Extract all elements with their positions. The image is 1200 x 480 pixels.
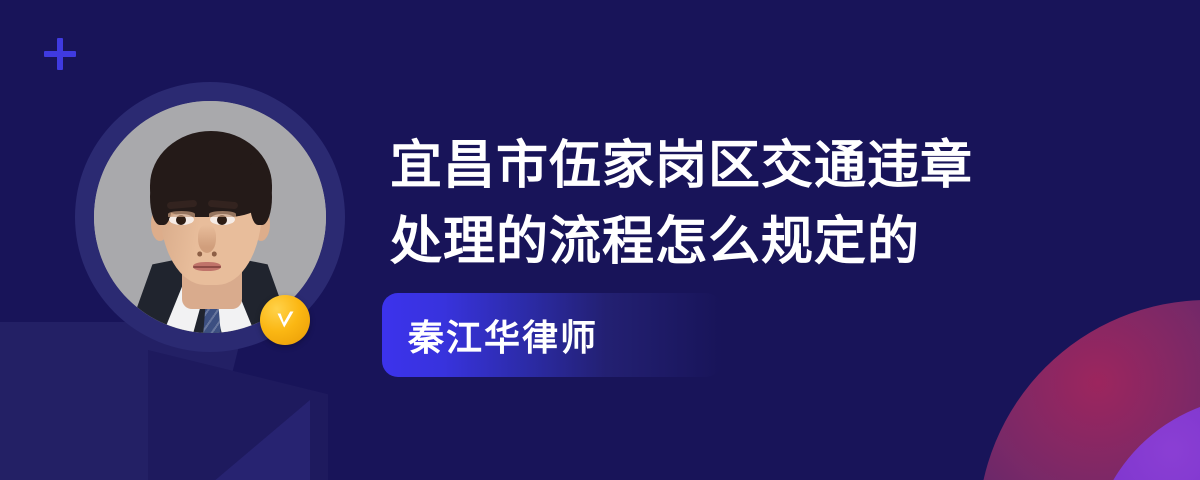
lawyer-profile-banner: 宜昌市伍家岗区交通违章 处理的流程怎么规定的 秦江华律师 — [0, 0, 1200, 480]
portrait-eyelid-left — [168, 211, 195, 217]
page-title-line-1: 宜昌市伍家岗区交通违章 — [390, 128, 1090, 204]
lawyer-name-badge[interactable]: 秦江华律师 — [382, 293, 722, 377]
portrait-eyelid-right — [209, 211, 236, 217]
portrait-nose — [198, 225, 216, 253]
plus-icon — [44, 38, 76, 70]
portrait-nostrils — [194, 251, 220, 257]
headline-block: 宜昌市伍家岗区交通违章 处理的流程怎么规定的 — [390, 128, 1090, 280]
portrait-lip-line — [193, 266, 221, 268]
verified-badge-icon — [260, 295, 310, 345]
violet-glow-circle — [1090, 396, 1200, 480]
page-title-line-2: 处理的流程怎么规定的 — [390, 204, 1090, 280]
angular-polygon-center — [148, 350, 328, 480]
angular-polygon-accent — [180, 400, 310, 480]
lawyer-name-label: 秦江华律师 — [408, 309, 598, 361]
crimson-glow-circle — [978, 300, 1200, 480]
